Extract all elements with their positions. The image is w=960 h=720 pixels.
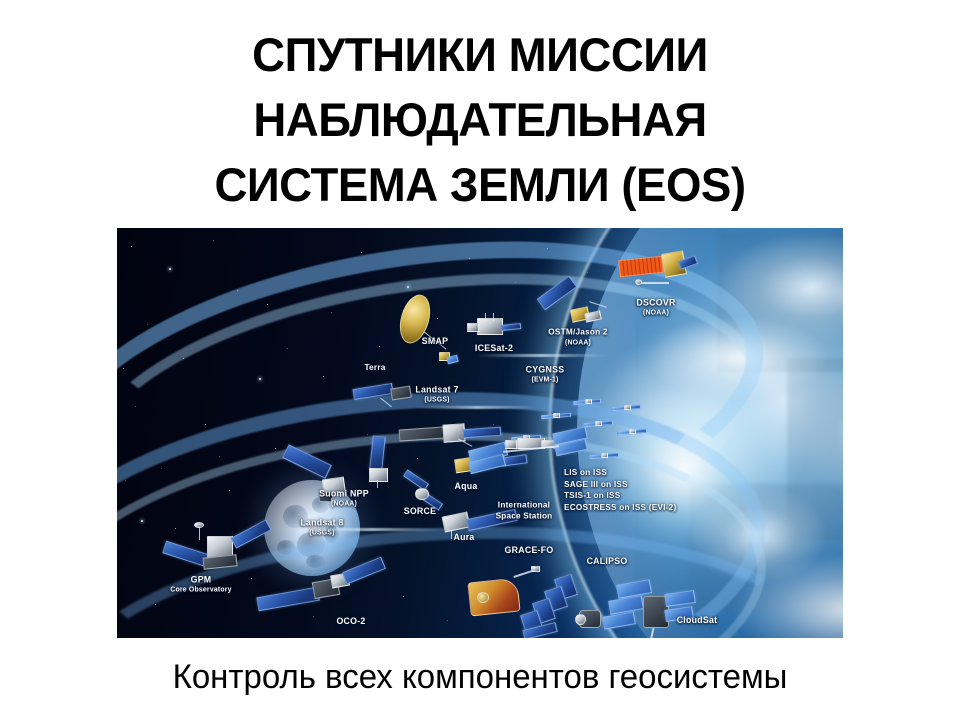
label-landsat-8: Landsat 8 (USGS) — [300, 518, 343, 539]
label-dscovr: DSCOVR (NOAA) — [636, 298, 675, 319]
label-oco-2: OCO-2 — [336, 616, 365, 627]
label-aura: Aura — [453, 532, 474, 543]
slide-canvas: СПУТНИКИ МИССИИ НАБЛЮДАТЕЛЬНАЯ СИСТЕМА З… — [0, 0, 960, 720]
label-calipso: CALIPSO — [587, 556, 628, 567]
satellite-dscovr — [619, 250, 699, 298]
label-gpm: GPM Core Observatory — [170, 575, 231, 596]
label-landsat-7: Landsat 7 (USGS) — [415, 385, 458, 406]
satellite-oco-2 — [257, 562, 385, 620]
satellite-calipso — [523, 576, 607, 638]
page-title: СПУТНИКИ МИССИИ НАБЛЮДАТЕЛЬНАЯ СИСТЕМА З… — [0, 22, 960, 217]
satellite-cloudsat — [603, 582, 699, 638]
label-cloudsat: CloudSat — [677, 615, 718, 626]
eos-fleet-image: Terra SMAP ICESat-2 OSTM/Jason 2 (NOAA) … — [117, 228, 843, 638]
label-cygnss: CYGNSS (EVM-1) — [526, 365, 565, 386]
satellite-terra — [353, 378, 423, 412]
label-aqua: Aqua — [455, 481, 478, 492]
label-iss-instrument-list: LIS on ISS SAGE III on ISS TSIS-1 on ISS… — [564, 467, 676, 513]
label-grace-fo: GRACE-FO — [505, 545, 554, 556]
label-terra: Terra — [364, 363, 385, 374]
orbit-streak-1 — [477, 354, 607, 357]
title-line-1: СПУТНИКИ МИССИИ — [14, 22, 945, 87]
satellite-smap — [399, 294, 461, 370]
slide-caption: Контроль всех компонентов геосистемы — [14, 655, 945, 699]
label-suomi-npp: Suomi NPP (NOAA) — [319, 489, 369, 510]
label-sorce: SORCE — [404, 506, 437, 517]
title-line-2: НАБЛЮДАТЕЛЬНАЯ — [14, 87, 945, 152]
label-international-space-station: International Space Station — [496, 501, 553, 522]
label-icesat-2: ICESat-2 — [475, 343, 513, 354]
satellite-icesat-2 — [465, 312, 523, 342]
title-line-3: СИСТЕМА ЗЕМЛИ (EOS) — [14, 152, 945, 217]
label-ostm-jason-2: OSTM/Jason 2 (NOAA) — [548, 328, 607, 349]
label-smap: SMAP — [422, 336, 448, 347]
